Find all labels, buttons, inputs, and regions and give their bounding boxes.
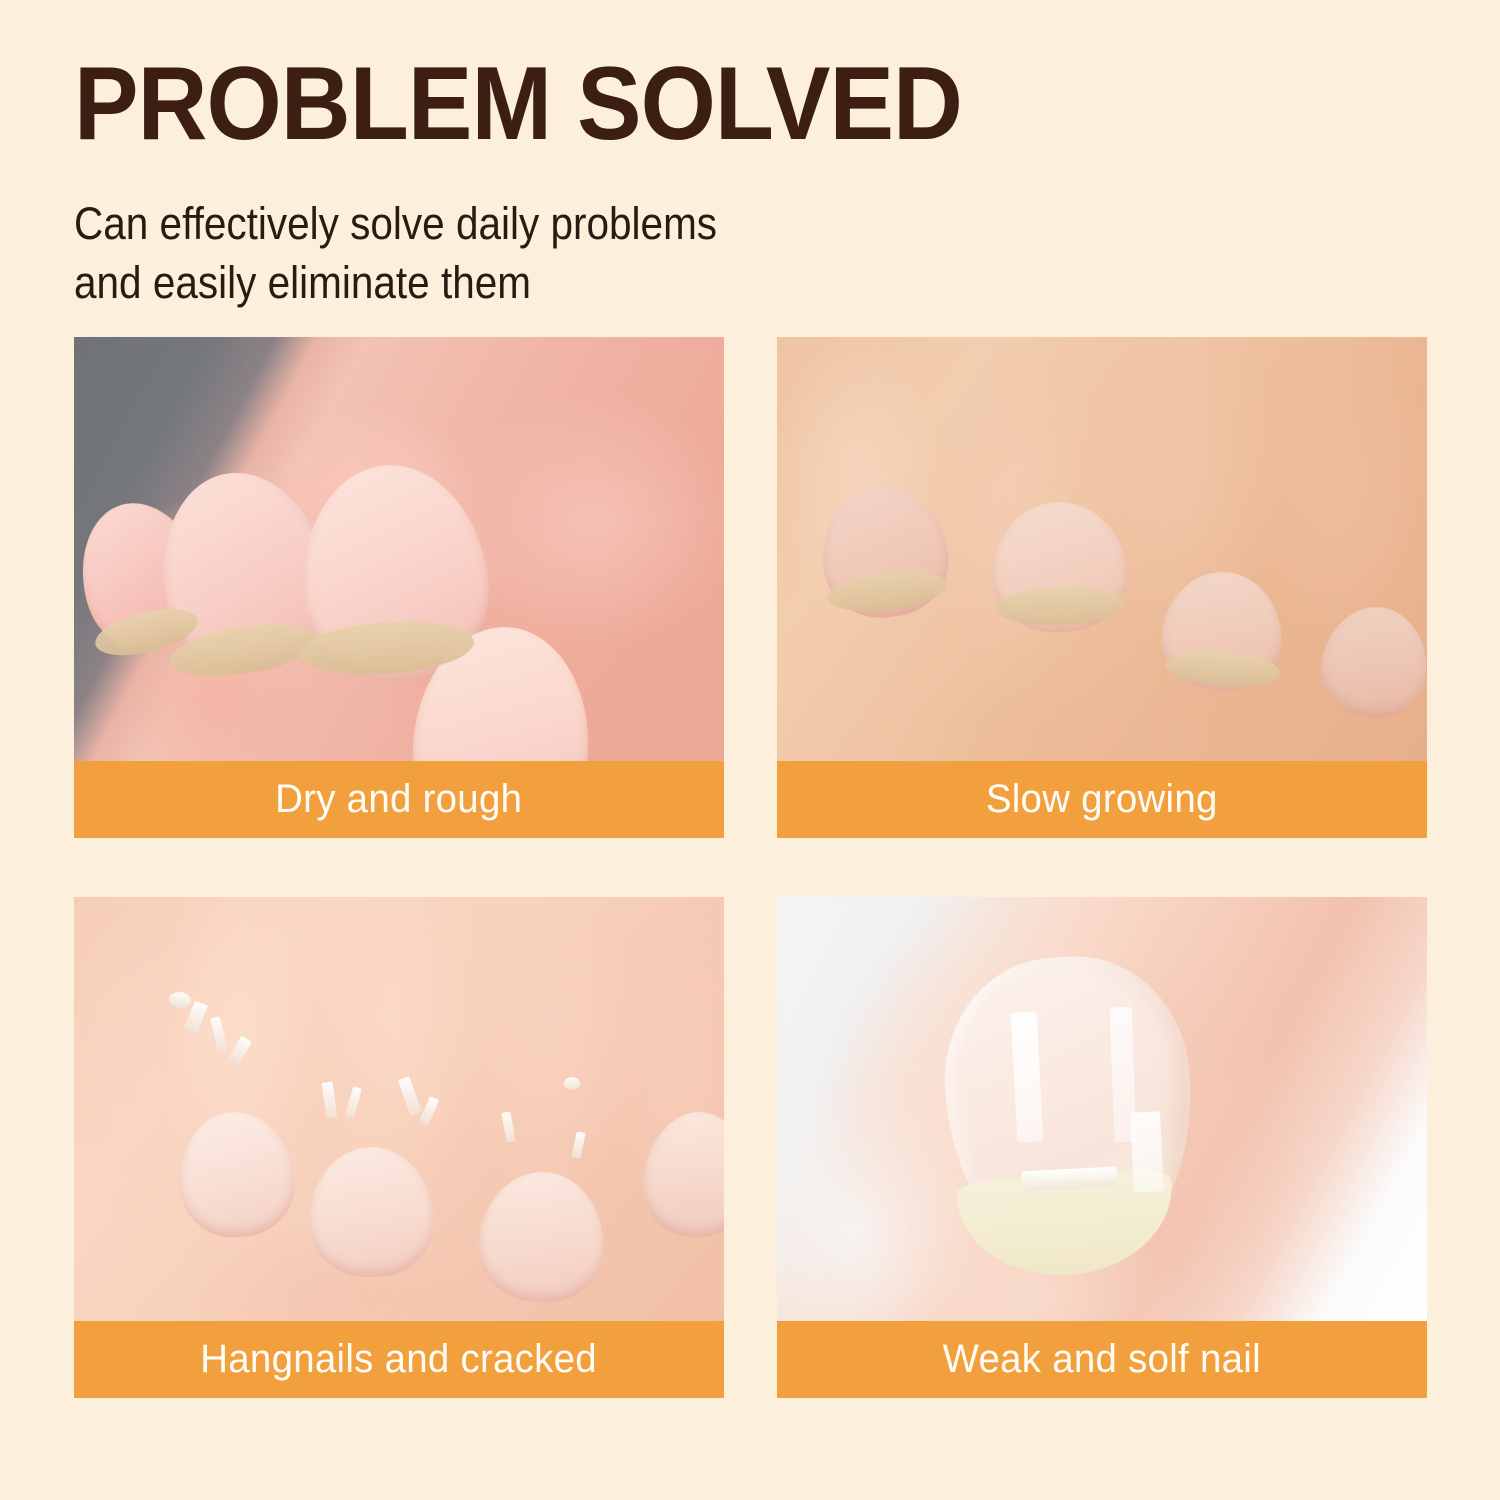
skin-flake [564, 1077, 580, 1090]
nail-shape [173, 1106, 300, 1242]
skin-flake [322, 1081, 338, 1118]
caption-bar: Dry and rough [74, 761, 724, 838]
skin-flake [571, 1131, 585, 1158]
header-block: PROBLEM SOLVED Can effectively solve dai… [74, 52, 1434, 313]
skin-flake [398, 1076, 422, 1116]
caption-label: Dry and rough [275, 777, 522, 822]
caption-bar: Hangnails and cracked [74, 1321, 724, 1398]
page-subtitle: Can effectively solve daily problems and… [74, 194, 1298, 313]
problem-card-slow-growing[interactable]: Slow growing [777, 337, 1427, 838]
skin-flake [228, 1036, 251, 1065]
problem-card-hangnails-and-cracked[interactable]: Hangnails and cracked [74, 897, 724, 1398]
skin-flake [501, 1111, 515, 1142]
photo-slow-growing [777, 337, 1427, 761]
nail-shape [638, 1107, 724, 1242]
photo-weak-and-solf-nail [777, 897, 1427, 1321]
caption-bar: Slow growing [777, 761, 1427, 838]
photo-hangnails-and-cracked [74, 897, 724, 1321]
photo-dry-and-rough [74, 337, 724, 761]
nail-shape [1315, 600, 1427, 724]
caption-label: Hangnails and cracked [201, 1337, 598, 1382]
skin-flake [168, 991, 192, 1010]
nail-shape [476, 1169, 608, 1305]
skin-flake [345, 1086, 362, 1117]
problem-card-weak-and-solf-nail[interactable]: Weak and solf nail [777, 897, 1427, 1398]
skin-flake [210, 1016, 228, 1051]
problem-card-grid: Dry and rough Slow growing [74, 337, 1427, 1398]
caption-bar: Weak and solf nail [777, 1321, 1427, 1398]
caption-label: Weak and solf nail [943, 1337, 1261, 1382]
problem-card-dry-and-rough[interactable]: Dry and rough [74, 337, 724, 838]
caption-label: Slow growing [986, 777, 1218, 822]
nail-shape [308, 1146, 435, 1278]
nail-ridge [1130, 1111, 1164, 1192]
page-title: PROBLEM SOLVED [74, 52, 1339, 156]
